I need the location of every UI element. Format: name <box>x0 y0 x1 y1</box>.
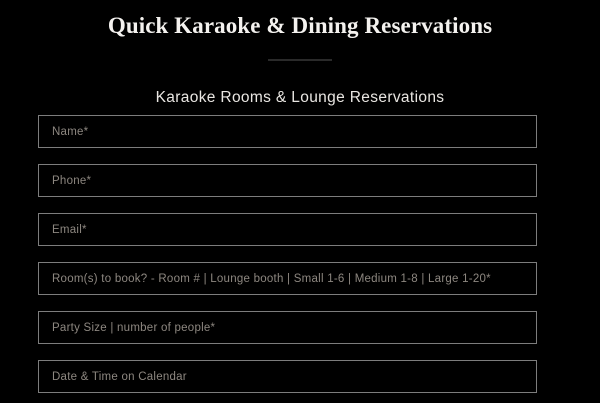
page-header: Quick Karaoke & Dining Reservations Kara… <box>0 0 600 106</box>
name-input[interactable] <box>38 115 537 148</box>
page-title: Quick Karaoke & Dining Reservations <box>0 0 600 37</box>
party-size-input[interactable] <box>38 311 537 344</box>
reservation-page: Quick Karaoke & Dining Reservations Kara… <box>0 0 600 403</box>
section-subtitle: Karaoke Rooms & Lounge Reservations <box>0 61 600 106</box>
email-input[interactable] <box>38 213 537 246</box>
reservation-form <box>38 115 537 393</box>
phone-input[interactable] <box>38 164 537 197</box>
date-time-input[interactable] <box>38 360 537 393</box>
rooms-to-book-input[interactable] <box>38 262 537 295</box>
